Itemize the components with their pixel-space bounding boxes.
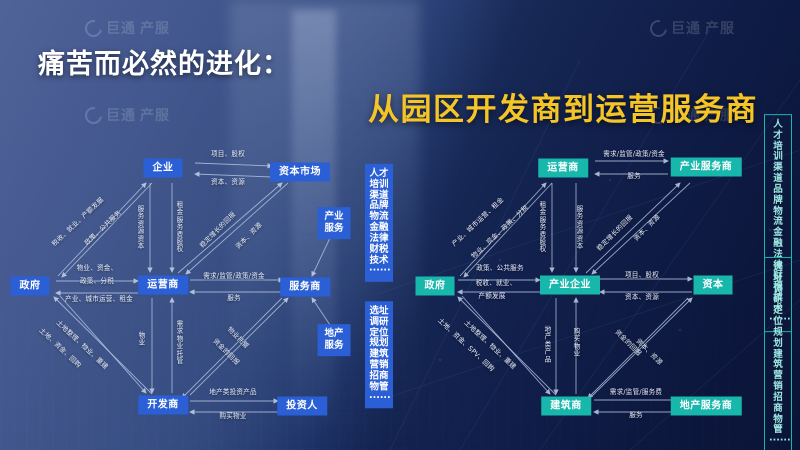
edge-label: 服务资源资本 [576, 206, 585, 250]
connector-line [312, 238, 330, 276]
edge-label: 地产类产品 [544, 327, 553, 364]
edge-label: 购买物业 [573, 328, 582, 358]
connector-line [586, 183, 680, 273]
service-tag[interactable]: 地产 服务 [317, 324, 350, 356]
edge-label: 需求/监管/政策/资金 [203, 272, 265, 280]
node-fwsh[interactable]: 服务商 [280, 278, 330, 297]
edge-label: 物业 [138, 333, 147, 348]
edge-label: 服务 [227, 294, 241, 302]
edge-label: 税收、就业、 [476, 279, 517, 287]
edge-label: 地产类投资产品 [209, 388, 257, 396]
edge-label: 租金服务费股权 [176, 202, 185, 254]
connector-line [60, 296, 146, 393]
node-cyfwsh[interactable]: 产业服务商 [671, 158, 742, 177]
node-ziben[interactable]: 资本 [694, 276, 733, 295]
diagram-operation-service-model: 运营商产业服务商政府产业企业资本建筑商地产服务商需求/监管/政策/资金服务产业、… [400, 0, 800, 450]
diagram-park-developer-model: 企业资本市场政府运营商服务商开发商投资人项目、股权资本、资源税收、就业、产额发展… [0, 0, 400, 450]
node-cyqy[interactable]: 产业企业 [540, 276, 600, 295]
connector-line [182, 298, 282, 398]
node-zhengfu[interactable]: 政府 [11, 277, 50, 296]
connector-line [195, 174, 272, 177]
edge-label: 资本、资源 [211, 178, 245, 186]
service-tag[interactable]: 产业 服务 [317, 207, 350, 239]
node-jzsh[interactable]: 建筑商 [541, 397, 591, 416]
node-zhengfu2[interactable]: 政府 [416, 277, 455, 296]
connector-line [190, 298, 288, 395]
node-qiye[interactable]: 企业 [144, 159, 183, 178]
connector-layer [400, 0, 800, 450]
edge-label: 产业、城市运营、租金 [65, 295, 133, 303]
edge-label: 需求/监管/政策/资金 [603, 150, 665, 158]
edge-label: 项目、股权 [625, 271, 659, 279]
edge-label: 服务资源资本 [137, 206, 146, 250]
edge-label: 政策、公共服务 [476, 264, 524, 272]
edge-label: 需求/监管/服务费 [610, 388, 662, 396]
edge-label: 购买物业 [219, 412, 246, 420]
edge-label: 政策、分税 [80, 277, 114, 285]
edge-label: 服务 [629, 411, 643, 419]
side-panel-list: 选址 调研 定位 规划 建筑 营销 招商 物管 ······ [365, 301, 393, 408]
side-panel-list: 人才 培训 渠道 品牌 物流 金融 法律 财税 技术 ······ [365, 164, 393, 282]
node-dcfwsh[interactable]: 地产服务商 [671, 397, 742, 416]
side-panel-list: 选址 调研 定位 规划 建筑 营销 招商 物管 ······ [764, 257, 792, 450]
edge-label: 服务 [627, 172, 641, 180]
connector-line [195, 163, 272, 166]
node-kfsh[interactable]: 开发商 [138, 396, 188, 415]
node-yysh2[interactable]: 运营商 [538, 159, 588, 178]
edge-label: 物业、资金、 [77, 264, 118, 272]
edge-label: 产额发展 [478, 292, 505, 300]
connector-line [186, 183, 288, 274]
node-tzr[interactable]: 投资人 [277, 397, 327, 416]
edge-label: 资本、资源 [625, 293, 659, 301]
connector-line [178, 183, 282, 273]
node-zbsc[interactable]: 资本市场 [270, 163, 330, 182]
edge-label: 项目、股权 [211, 150, 245, 158]
slide-canvas: 巨通 产服 巨通 产服 巨通 产服 巨通 产服 痛苦而必然的进化： 从园区开发商… [0, 0, 800, 450]
edge-label: 需求物业托管 [176, 321, 185, 365]
edge-label: 租金服务费股权 [539, 202, 548, 254]
node-yysh[interactable]: 运营商 [138, 276, 188, 295]
connector-line [312, 298, 330, 325]
